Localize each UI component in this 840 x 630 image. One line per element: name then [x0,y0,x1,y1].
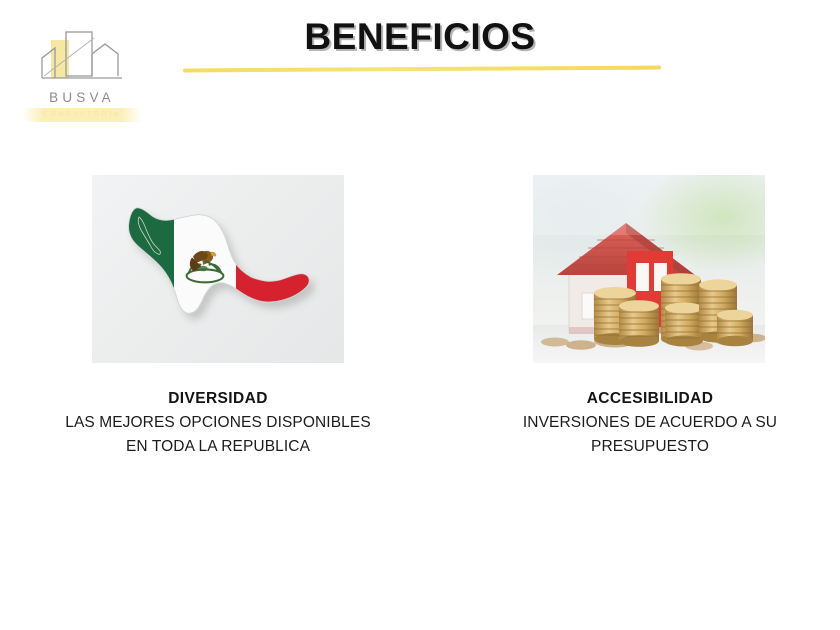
benefit-description-line-2: PRESUPUESTO [470,436,830,458]
benefit-caption-accesibilidad: ACCESIBILIDAD INVERSIONES DE ACUERDO A S… [470,388,830,458]
benefit-heading: DIVERSIDAD [8,388,428,410]
mexico-map-flag-photo [92,175,344,363]
benefit-description-line-2: EN TODA LA REPUBLICA [8,436,428,458]
page-title: BENEFICIOS [0,16,840,58]
benefit-description-line-1: LAS MEJORES OPCIONES DISPONIBLES [8,412,428,434]
benefit-card-accesibilidad [533,175,765,363]
benefit-heading: ACCESIBILIDAD [470,388,830,410]
benefit-card-diversidad [92,175,344,363]
title-underline-rule [183,66,661,73]
logo-wordmark: BUSVA [22,90,142,105]
house-with-coin-stacks-photo [533,175,765,363]
benefit-caption-diversidad: DIVERSIDAD LAS MEJORES OPCIONES DISPONIB… [8,388,428,458]
benefit-description-line-1: INVERSIONES DE ACUERDO A SU [470,412,830,434]
logo-tagline: CONSULTORIA [22,108,142,122]
